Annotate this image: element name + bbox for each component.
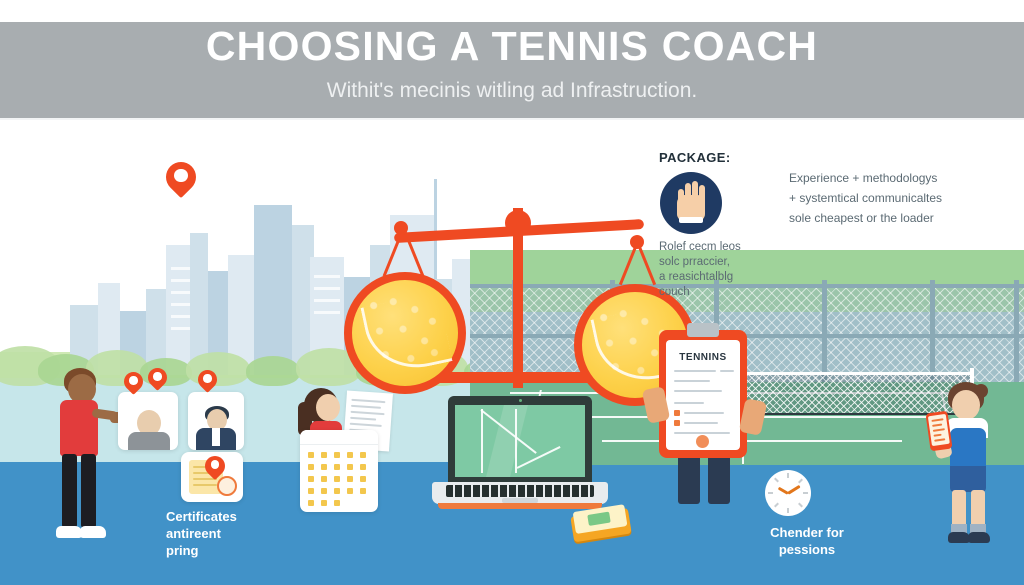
laptop-lid [448, 396, 592, 484]
header-underline [0, 118, 1024, 120]
scale-pivot [505, 210, 531, 236]
map-pin-icon [148, 368, 167, 387]
laptop[interactable] [432, 396, 608, 514]
calendar-icon [300, 430, 378, 512]
balance-scale [372, 196, 662, 396]
webcam-icon [519, 399, 522, 402]
certificates-label-line: Certificates [166, 508, 276, 525]
criteria-line: + systemtical communicaltes [789, 188, 989, 208]
laptop-foot [438, 503, 602, 509]
coach-card-1[interactable] [118, 392, 178, 450]
laptop-screen-court-diagram [455, 405, 585, 477]
criteria-text: Experience + methodologys + systemtical … [789, 168, 989, 228]
package-body-line: solc prraccier, [659, 255, 779, 270]
criteria-line: sole cheapest or the loader [789, 208, 989, 228]
infographic-canvas: CHOOSING A TENNIS COACH Withit's mecinis… [0, 0, 1024, 585]
schedule-label-line: Chender for [742, 524, 872, 541]
figure-blue-overalls-phone [940, 382, 1006, 550]
coach-card-2[interactable] [188, 392, 244, 450]
certificates-label: Certificates antireent pring [166, 508, 276, 559]
package-body-line: a reasichtalblg [659, 270, 779, 285]
schedule-label: Chender for pessions [742, 524, 872, 558]
clipboard[interactable]: TENNINS [659, 330, 747, 458]
clipboard-seal [696, 435, 709, 448]
criteria-line: Experience + methodologys [789, 168, 989, 188]
clipboard-paper: TENNINS [666, 340, 740, 450]
schedule-label-line: pessions [742, 541, 872, 558]
scale-pan-left-tennis-ball [344, 272, 466, 394]
laptop-keyboard [446, 485, 594, 497]
clipboard-title: TENNINS [666, 352, 740, 363]
package-body-text: Rolef cecm leos solc prraccier, a reasic… [659, 240, 779, 300]
certificates-label-line: antireent [166, 525, 276, 542]
hand-icon [660, 172, 722, 234]
map-pin-icon [198, 370, 217, 389]
page-subtitle: Withit's mecinis witling ad Infrastructi… [0, 80, 1024, 101]
map-pin-icon [124, 372, 143, 391]
map-pin-icon [166, 162, 196, 192]
package-body-line: Rolef cecm leos [659, 240, 779, 255]
package-body-line: couch [659, 285, 779, 300]
clipboard-clamp [687, 323, 719, 337]
certificate-icon [181, 452, 243, 502]
package-heading: PACKAGE: [659, 150, 731, 165]
certificates-label-line: pring [166, 542, 276, 559]
clock-icon [765, 470, 811, 516]
page-title: CHOOSING A TENNIS COACH [0, 26, 1024, 67]
figure-red-shirt [52, 368, 114, 546]
